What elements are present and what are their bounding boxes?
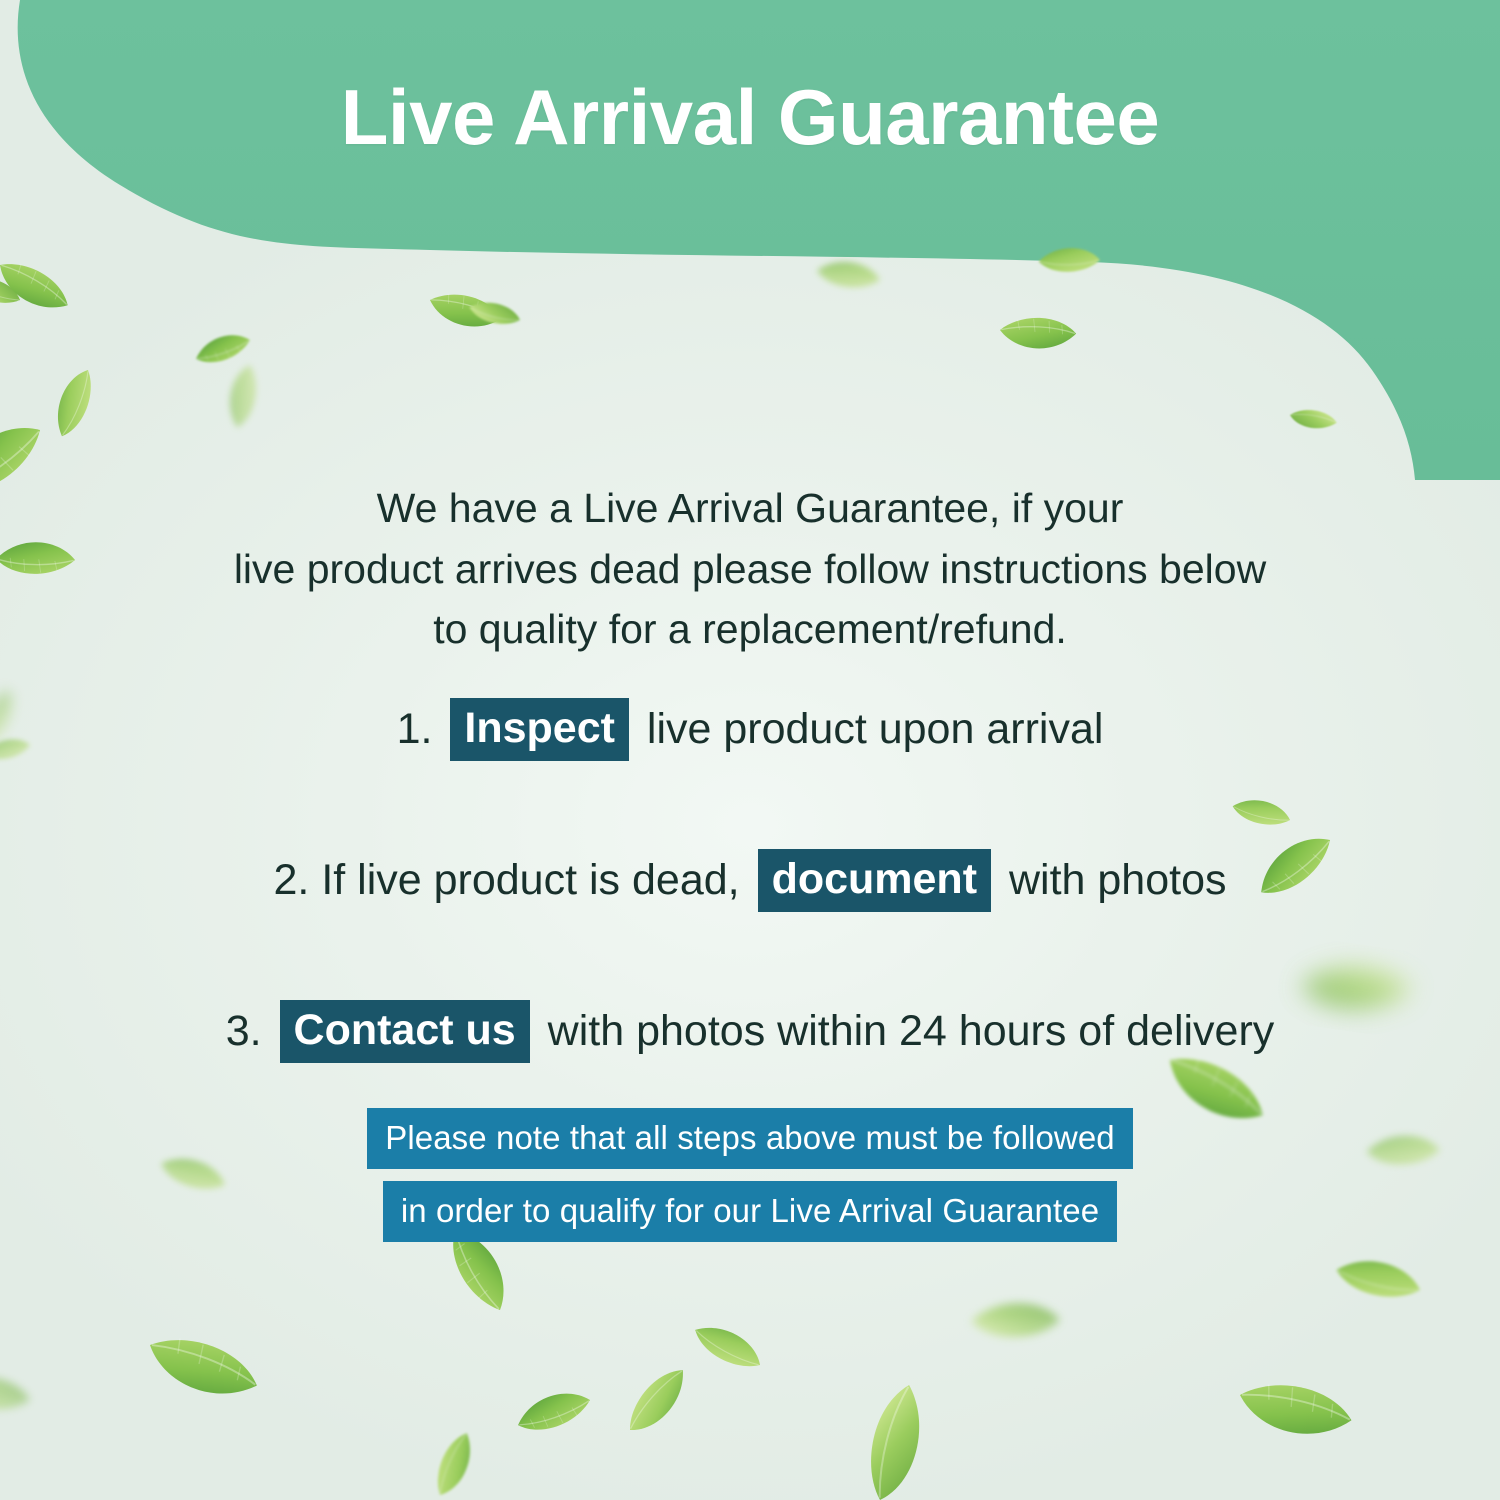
step-item-3: 3. Contact us with photos within 24 hour… — [60, 1002, 1440, 1065]
content-area: We have a Live Arrival Guarantee, if you… — [0, 0, 1500, 1500]
page-title: Live Arrival Guarantee — [0, 78, 1500, 156]
note-banner: Please note that all steps above must be… — [0, 1108, 1500, 1242]
step-item-1: 1. Inspect live product upon arrival — [60, 700, 1440, 763]
intro-line-1: We have a Live Arrival Guarantee, if you… — [150, 478, 1350, 539]
step-text-1-after: live product upon arrival — [647, 705, 1104, 753]
step-highlight-document[interactable]: document — [758, 849, 991, 912]
note-line-1: Please note that all steps above must be… — [367, 1108, 1133, 1169]
step-text-3-after: with photos within 24 hours of delivery — [548, 1007, 1275, 1055]
step-text-2-before: If live product is dead, — [321, 856, 739, 904]
steps-list: 1. Inspect live product upon arrival 2. … — [60, 700, 1440, 1065]
step-item-2: 2. If live product is dead, document wit… — [60, 851, 1440, 914]
step-highlight-inspect[interactable]: Inspect — [450, 698, 629, 761]
step-number-2: 2. — [273, 856, 309, 904]
live-arrival-guarantee-poster: Live Arrival Guarantee — [0, 0, 1500, 1500]
intro-line-2: live product arrives dead please follow … — [150, 539, 1350, 600]
intro-paragraph: We have a Live Arrival Guarantee, if you… — [150, 478, 1350, 660]
step-highlight-contact-us[interactable]: Contact us — [280, 1000, 530, 1063]
step-number-1: 1. — [397, 705, 433, 753]
step-text-2-after: with photos — [1009, 856, 1227, 904]
intro-line-3: to quality for a replacement/refund. — [150, 599, 1350, 660]
step-number-3: 3. — [226, 1007, 262, 1055]
note-line-2: in order to qualify for our Live Arrival… — [383, 1181, 1117, 1242]
